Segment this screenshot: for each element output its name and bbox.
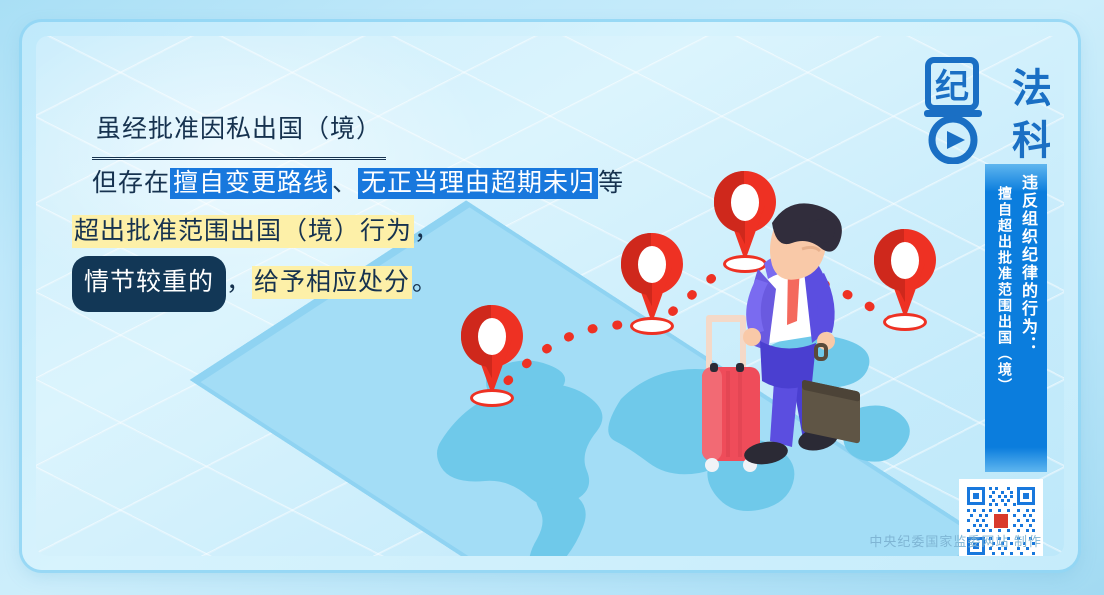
logo-char-ke: 科 [1012,118,1050,163]
vertical-text-violation: 违反组织纪律的行为： [1017,174,1038,472]
logo-char-fa: 法 [1012,66,1050,111]
map-pin-1[interactable] [461,305,523,401]
leg-front [770,381,798,447]
poster-canvas: 虽经批准因私出国（境） 但存在擅自变更路线、无正当理由超期未归等 超出批准范围出… [0,0,1104,595]
copy-line-2-suffix: 等 [598,170,624,197]
qr-center-logo [994,514,1008,528]
pin-base [470,389,514,407]
copy-line-3: 超出批准范围出国（境）行为， [72,208,692,256]
hair-bun [809,219,835,243]
headline-copy: 虽经批准因私出国（境） 但存在擅自变更路线、无正当理由超期未归等 超出批准范围出… [72,106,692,312]
play-triangle-icon [947,131,965,149]
copy-line-2: 但存在擅自变更路线、无正当理由超期未归等 [72,160,692,208]
inner-frame: 虽经批准因私出国（境） 但存在擅自变更路线、无正当理由超期未归等 超出批准范围出… [36,36,1064,556]
traveller-illustration [696,191,896,491]
credit-text: 中央纪委国家监委网站 制作 [869,531,1042,550]
highlight-overstay: 无正当理由超期未归 [358,168,598,199]
copy-line-1: 虽经批准因私出国（境） [72,106,692,160]
highlight-unauthorized-route: 擅自变更路线 [170,168,332,199]
copy-line-2-separator: 、 [332,170,358,197]
hand-left [743,328,761,346]
pin-base [630,317,674,335]
pin-hole [478,318,506,355]
copy-line-2-prefix: 但存在 [92,170,170,197]
brand-logo-jifa-baike[interactable]: 纪 法 科 [920,54,1050,164]
highlight-exceeding-scope: 超出批准范围出国（境）行为 [72,215,414,248]
copy-line-3-suffix: ， [414,218,440,245]
badge-serious-circumstances: 情节较重的 [72,256,226,312]
highlight-penalty: 给予相应处分 [252,266,412,299]
vertical-text-detail: 擅自超出批准范围出国（境） [994,174,1013,472]
copy-line-1-text: 虽经批准因私出国（境） [92,106,386,160]
copy-line-4: 情节较重的，给予相应处分。 [72,256,692,312]
vertical-caption-panel: 违反组织纪律的行为： 擅自超出批准范围出国（境） [985,164,1047,472]
copy-line-4-comma: ， [226,269,252,296]
copy-line-4-suffix: 。 [412,269,438,296]
logo-char-ji: 纪 [935,68,969,106]
